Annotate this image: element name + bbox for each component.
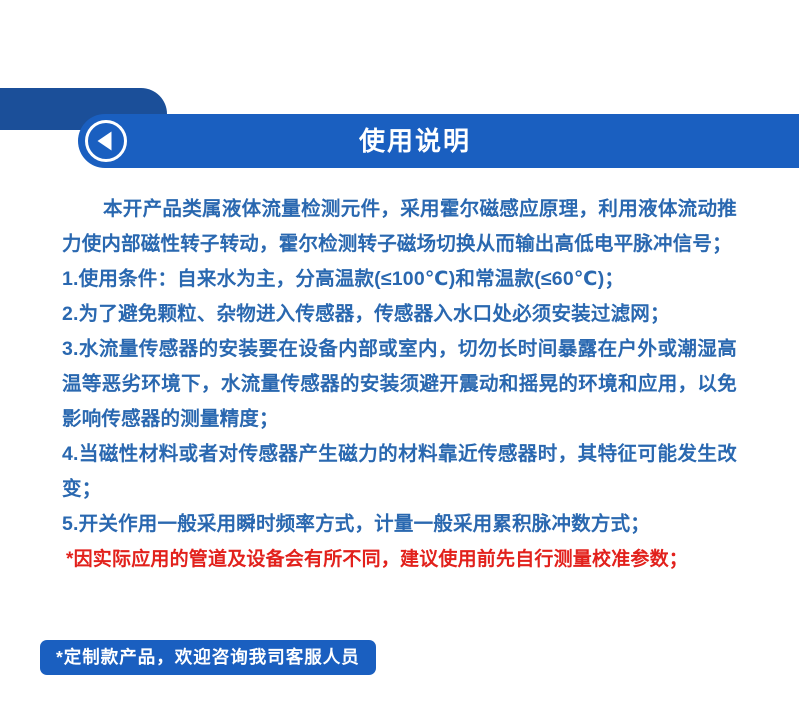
instructions-content: 本开产品类属液体流量检测元件，采用霍尔磁感应原理，利用液体流动推力使内部磁性转子… [0,180,799,577]
paragraph-intro: 本开产品类属液体流量检测元件，采用霍尔磁感应原理，利用液体流动推力使内部磁性转子… [0,180,799,262]
paragraph-item-2: 2.为了避免颗粒、杂物进入传感器，传感器入水口处必须安装过滤网； [0,297,799,332]
paragraph-item-1: 1.使用条件：自来水为主，分高温款(≤100℃)和常温款(≤60℃)； [0,262,799,297]
paragraph-item-4: 4.当磁性材料或者对传感器产生磁力的材料靠近传感器时，其特征可能发生改变； [0,437,799,507]
calibration-note: *因实际应用的管道及设备会有所不同，建议使用前先自行测量校准参数； [0,542,799,577]
page-header: 使用说明 [0,0,799,180]
back-triangle-circle-icon[interactable] [84,119,128,163]
page-title: 使用说明 [78,114,752,168]
paragraph-item-5: 5.开关作用一般采用瞬时频率方式，计量一般采用累积脉冲数方式； [0,507,799,542]
paragraph-item-3: 3.水流量传感器的安装要在设备内部或室内，切勿长时间暴露在户外或潮湿高温等恶劣环… [0,332,799,437]
custom-order-banner: *定制款产品，欢迎咨询我司客服人员 [40,640,376,675]
